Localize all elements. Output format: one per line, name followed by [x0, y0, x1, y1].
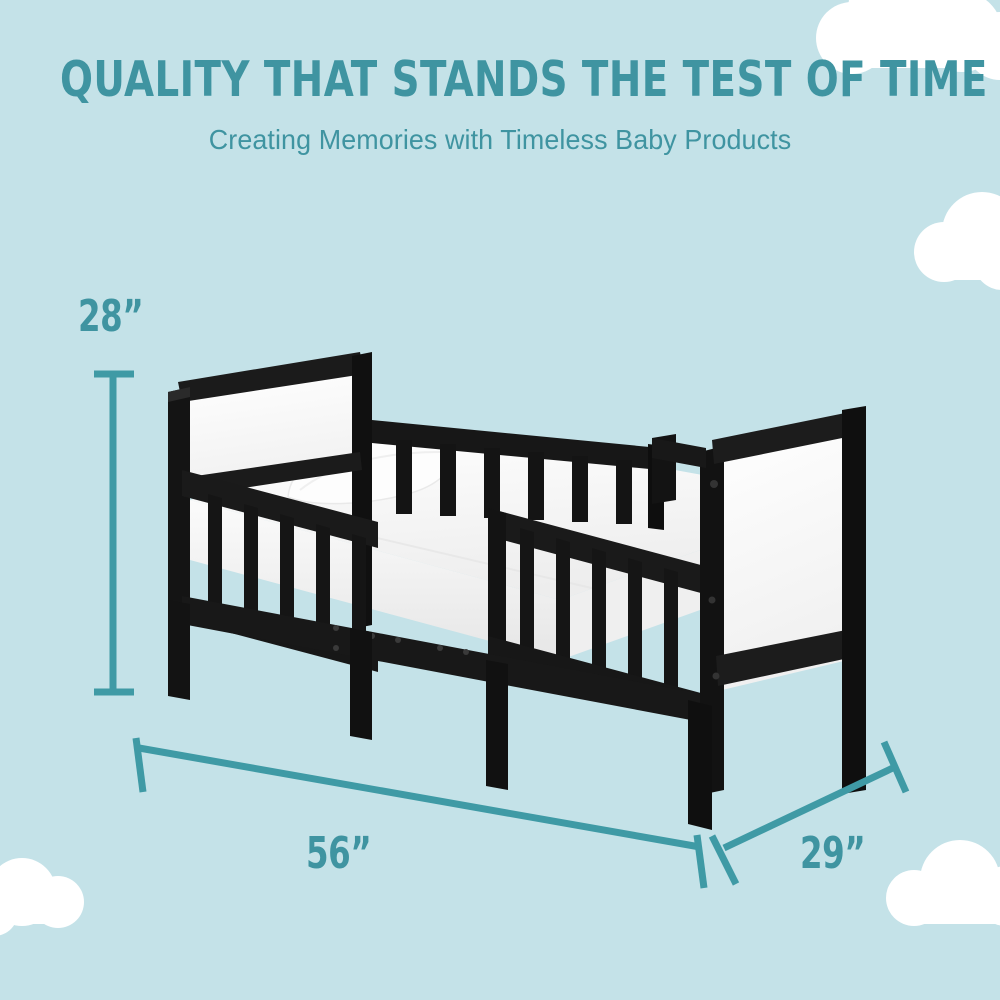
dimension-line-width: [136, 738, 704, 888]
page-title: QUALITY THAT STANDS THE TEST OF TIME: [60, 55, 940, 104]
dimension-label-height: 28”: [78, 295, 143, 339]
dimension-label-depth: 29”: [800, 832, 865, 876]
infographic-canvas: QUALITY THAT STANDS THE TEST OF TIME Cre…: [0, 0, 1000, 1000]
dimension-label-width: 56”: [306, 832, 371, 876]
page-subtitle: Creating Memories with Timeless Baby Pro…: [20, 126, 980, 154]
dimension-line-height: [94, 374, 134, 692]
